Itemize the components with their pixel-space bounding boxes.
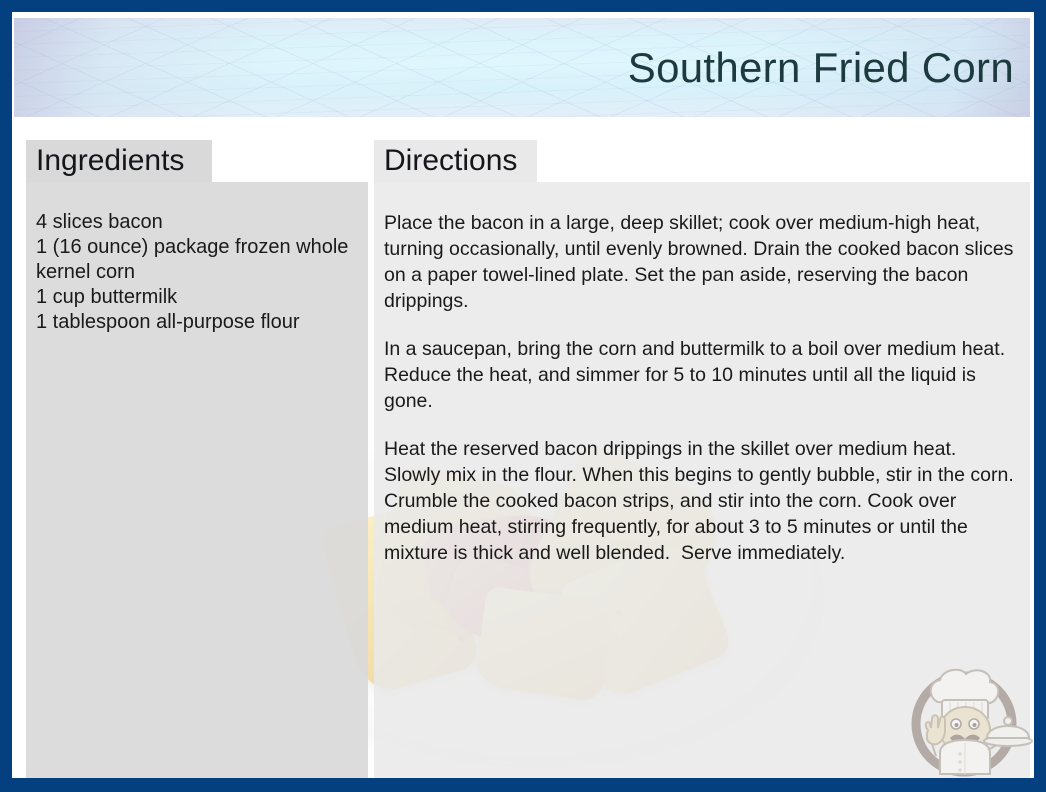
directions-panel: Place the bacon in a large, deep skillet… [374,182,1030,778]
recipe-card: Southern Fried Corn Ingredients [0,0,1046,792]
ingredients-list: 4 slices bacon 1 (16 ounce) package froz… [36,210,352,335]
direction-step: Place the bacon in a large, deep skillet… [384,210,1014,314]
recipe-sheet: Southern Fried Corn Ingredients [12,12,1034,778]
ingredients-heading: Ingredients [36,144,184,178]
direction-step: In a saucepan, bring the corn and butter… [384,336,1014,414]
list-item: 4 slices bacon [36,210,352,235]
ingredients-panel: 4 slices bacon 1 (16 ounce) package froz… [26,182,368,778]
directions-heading-tab: Directions [374,140,537,182]
direction-step: Heat the reserved bacon drippings in the… [384,436,1014,566]
page-title: Southern Fried Corn [628,44,1014,92]
list-item: 1 tablespoon all-purpose flour [36,310,352,335]
ingredients-heading-tab: Ingredients [26,140,212,182]
list-item: 1 cup buttermilk [36,285,352,310]
directions-heading: Directions [384,144,517,178]
list-item: 1 (16 ounce) package frozen whole kernel… [36,235,352,285]
title-banner: Southern Fried Corn [14,18,1030,117]
